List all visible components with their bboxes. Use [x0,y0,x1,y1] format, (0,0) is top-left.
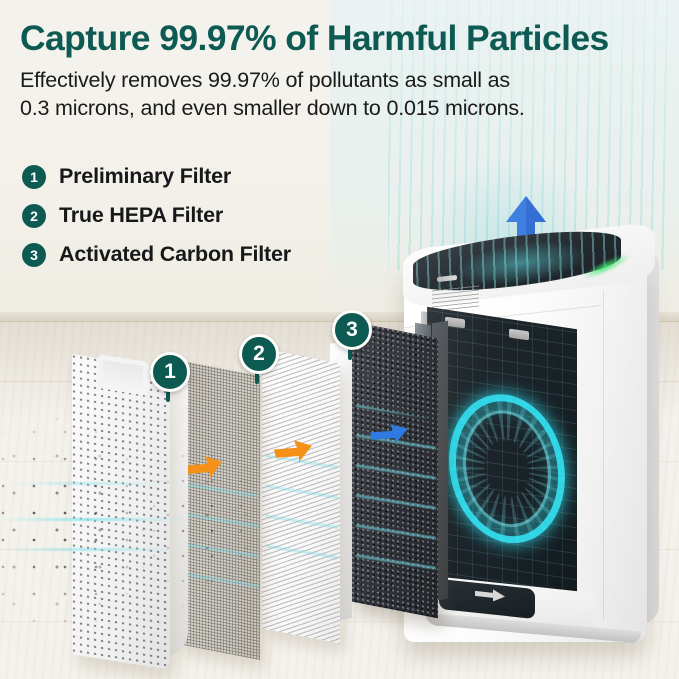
list-item-label-3: Activated Carbon Filter [59,242,291,267]
headline-block: Capture 99.97% of Harmful Particles Effe… [20,20,668,123]
list-item-activated-carbon-filter: 3 Activated Carbon Filter [22,242,291,267]
list-item-true-hepa-filter: 2 True HEPA Filter [22,203,291,228]
filter-chamber-interior [427,307,577,619]
pin-marker-carbon-filter: 3 [332,310,372,358]
pin-marker-preliminary-filter: 1 [150,352,190,400]
badge-number-2: 2 [22,204,46,228]
pin-marker-hepa-filter: 2 [239,334,279,382]
pin-number-1: 1 [150,352,190,392]
incoming-air-stream-a [0,518,190,521]
list-item-label-2: True HEPA Filter [59,203,223,228]
airborne-dust-particles-secondary [150,400,280,630]
incoming-air-stream-b [4,548,180,551]
page-title: Capture 99.97% of Harmful Particles [20,20,668,58]
incoming-air-stream-c [10,482,170,485]
list-item-preliminary-filter: 1 Preliminary Filter [22,164,291,189]
subtitle-line-2: 0.3 microns, and even smaller down to 0.… [20,95,668,123]
filter-list: 1 Preliminary Filter 2 True HEPA Filter … [22,164,291,281]
base-direction-arrow-icon [475,586,505,601]
pin-number-3: 3 [332,310,372,350]
badge-number-1: 1 [22,165,46,189]
list-item-label-1: Preliminary Filter [59,164,231,189]
purifier-body-seam [603,290,604,620]
subtitle: Effectively removes 99.97% of pollutants… [20,67,668,123]
badge-number-3: 3 [22,243,46,267]
subtitle-line-1: Effectively removes 99.97% of pollutants… [20,67,668,95]
pin-number-2: 2 [239,334,279,374]
product-infographic-scene: 1 2 3 Capture 99.97% of Harmful Particle… [0,0,679,679]
